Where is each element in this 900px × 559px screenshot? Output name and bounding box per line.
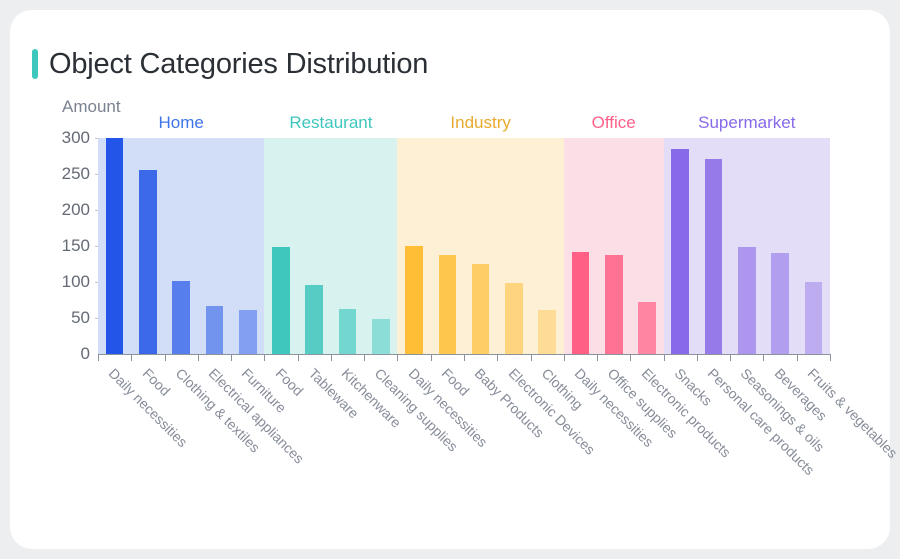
bar[interactable] (605, 255, 623, 354)
bar[interactable] (206, 306, 224, 354)
bar[interactable] (705, 159, 723, 354)
x-axis-tick-mark (165, 355, 166, 361)
x-axis-tick-mark (98, 355, 99, 361)
bar[interactable] (372, 319, 390, 354)
x-axis-tick-mark (630, 355, 631, 361)
x-axis-tick-mark (397, 355, 398, 361)
title-accent-bar (32, 49, 38, 79)
x-axis-tick-mark (497, 355, 498, 361)
bar[interactable] (572, 252, 590, 354)
bar[interactable] (638, 302, 656, 354)
group-label-office: Office (564, 113, 664, 133)
plot-bands: HomeRestaurantIndustryOfficeSupermarket (98, 138, 830, 354)
bar[interactable] (339, 309, 357, 354)
plot-area: HomeRestaurantIndustryOfficeSupermarket (98, 138, 830, 354)
bar[interactable] (305, 285, 323, 354)
x-axis-tick-mark (564, 355, 565, 361)
bar[interactable] (272, 247, 290, 354)
group-label-home: Home (98, 113, 264, 133)
y-axis-tick-label: 200 (62, 200, 90, 220)
x-axis-tick-mark (664, 355, 665, 361)
y-axis-tick-label: 150 (62, 236, 90, 256)
bar[interactable] (505, 283, 523, 354)
group-label-restaurant: Restaurant (264, 113, 397, 133)
bar[interactable] (239, 310, 257, 354)
category-group-home: Home (98, 138, 264, 354)
bar[interactable] (738, 247, 756, 354)
bar[interactable] (405, 246, 423, 354)
x-axis-tick-mark (730, 355, 731, 361)
x-axis-tick-mark (131, 355, 132, 361)
chart-title-row: Object Categories Distribution (32, 44, 428, 84)
bar[interactable] (805, 282, 823, 354)
bar[interactable] (771, 253, 789, 354)
bar[interactable] (139, 170, 157, 354)
category-group-industry: Industry (397, 138, 563, 354)
bar[interactable] (106, 138, 124, 354)
x-axis-tick-mark (830, 355, 831, 361)
x-axis-tick-mark (464, 355, 465, 361)
page-title: Object Categories Distribution (49, 48, 428, 81)
category-group-restaurant: Restaurant (264, 138, 397, 354)
x-axis-tick-mark (763, 355, 764, 361)
y-axis-tick-labels: 050100150200250300 (40, 138, 90, 354)
y-axis-tick-label: 250 (62, 164, 90, 184)
x-axis-tick-mark (364, 355, 365, 361)
bar[interactable] (538, 310, 556, 354)
y-axis-tick-label: 50 (71, 308, 90, 328)
bar[interactable] (472, 264, 490, 354)
x-axis-tick-mark (697, 355, 698, 361)
x-axis-tick-mark (331, 355, 332, 361)
y-axis-tick-label: 0 (81, 344, 90, 364)
x-axis-tick-mark (298, 355, 299, 361)
group-label-industry: Industry (397, 113, 563, 133)
x-axis-tick-mark (797, 355, 798, 361)
group-label-supermarket: Supermarket (664, 113, 830, 133)
bar[interactable] (671, 149, 689, 354)
bar[interactable] (439, 255, 457, 354)
x-axis-tick-mark (198, 355, 199, 361)
category-group-supermarket: Supermarket (664, 138, 830, 354)
x-axis-tick-mark (264, 355, 265, 361)
x-axis-tick-mark (531, 355, 532, 361)
chart-card: Object Categories Distribution Amount 05… (10, 10, 890, 549)
x-axis-tick-mark (431, 355, 432, 361)
category-group-office: Office (564, 138, 664, 354)
bar[interactable] (172, 281, 190, 354)
x-axis-tick-mark (597, 355, 598, 361)
y-axis-tick-label: 100 (62, 272, 90, 292)
x-axis-tick-mark (231, 355, 232, 361)
y-axis-tick-label: 300 (62, 128, 90, 148)
